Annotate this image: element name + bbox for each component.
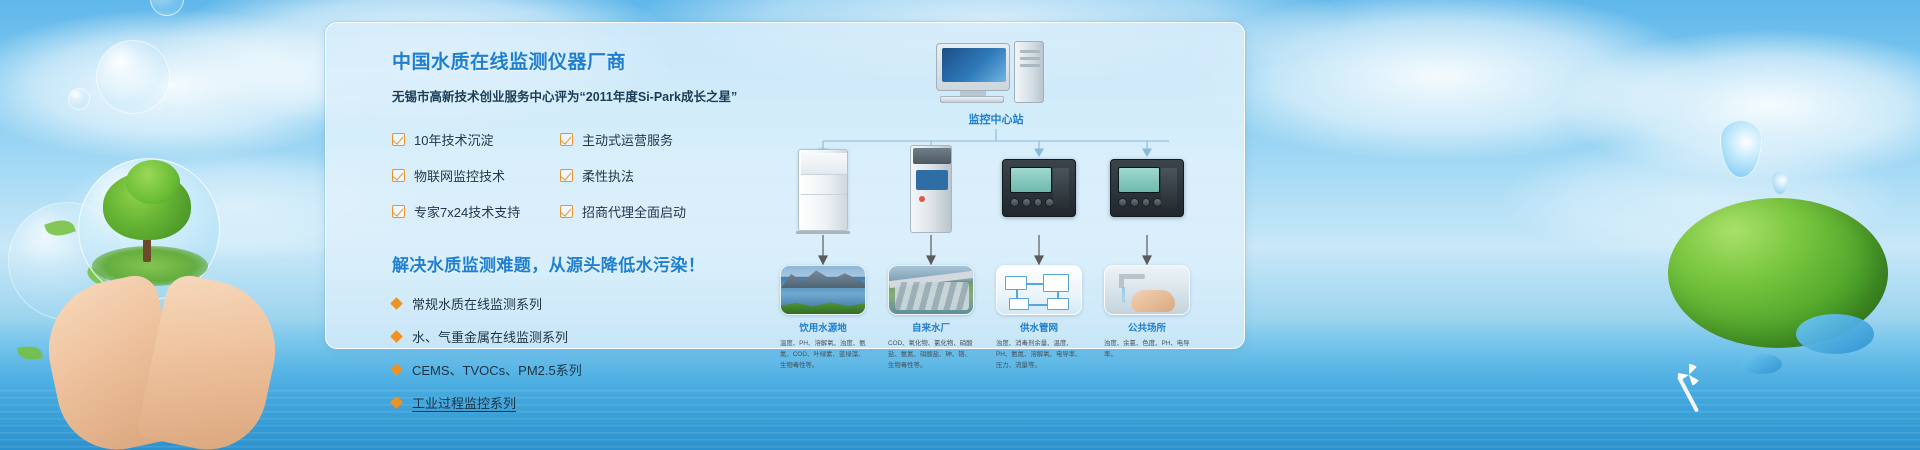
feature-list: 10年技术沉淀 主动式运营服务 物联网监控技术 柔性执法 专家7x24技术支持 …: [392, 130, 732, 221]
pipe-node: [1043, 274, 1069, 292]
device-item[interactable]: [780, 145, 866, 231]
water-treatment-plant-photo: [888, 265, 974, 315]
instrument-key: [1118, 198, 1127, 207]
green-earth-globe-icon: [1668, 198, 1888, 348]
instrument-body: [1002, 159, 1076, 217]
faucet-stem: [1119, 274, 1124, 288]
dark-instrument-controller-icon: [996, 145, 1082, 231]
text-column: 中国水质在线监测仪器厂商 无锡市高新技术创业服务中心评为“2011年度Si-Pa…: [392, 47, 732, 412]
pc-tower-icon: [1014, 41, 1044, 103]
instrument-side-panel: [1161, 168, 1177, 208]
pipe-line: [1027, 283, 1043, 285]
check-box-icon: [392, 133, 405, 146]
keyboard-icon: [940, 96, 1004, 103]
check-box-icon: [560, 169, 573, 182]
device-item[interactable]: [996, 145, 1082, 231]
instrument-side-panel: [1053, 168, 1069, 208]
system-architecture-diagram: 监控中心站: [766, 37, 1226, 347]
application-category[interactable]: 饮用水源地 温度、PH、溶解氧、浊度、氨氮、COD、叶绿素、蓝绿藻、生物毒性等。: [780, 265, 866, 372]
feature-label: 10年技术沉淀: [414, 130, 493, 149]
feature-item[interactable]: 10年技术沉淀: [392, 130, 560, 149]
application-category[interactable]: 自来水厂 COD、氧化物、氯化物、硝酸盐、氨氮、硝酸盐、砷、铬、生物毒性等。: [888, 265, 974, 372]
white-cabinet-analyzer-icon: [780, 145, 866, 231]
main-content-panel: 中国水质在线监测仪器厂商 无锡市高新技术创业服务中心评为“2011年度Si-Pa…: [325, 22, 1245, 349]
category-description: COD、氧化物、氯化物、硝酸盐、氨氮、硝酸盐、砷、铬、生物毒性等。: [888, 338, 974, 372]
instrument-body: [1110, 159, 1184, 217]
pipe-line: [1016, 290, 1018, 298]
tower-slot: [1020, 64, 1040, 67]
feature-item[interactable]: 主动式运营服务: [560, 130, 728, 149]
monitoring-center-station[interactable]: [936, 43, 1056, 105]
river-landscape-photo: [780, 265, 866, 315]
hand-shape: [1131, 290, 1175, 312]
pipe-network-diagram-photo: [996, 265, 1082, 315]
feature-label: 物联网监控技术: [414, 166, 505, 185]
cabinet-base: [796, 231, 850, 234]
instrument-keypad: [1010, 198, 1054, 210]
grey-tower-analyzer-icon: [888, 145, 974, 231]
solution-list: 常规水质在线监测系列 水、气重金属在线监测系列 CEMS、TVOCs、PM2.5…: [392, 294, 732, 412]
application-category[interactable]: 供水管网 浊度、消毒剂余量、温度、PH、氨氮、溶解氧、电导率、压力、流量等。: [996, 265, 1082, 372]
instrument-key: [1142, 198, 1151, 207]
category-description: 温度、PH、溶解氧、浊度、氨氮、COD、叶绿素、蓝绿藻、生物毒性等。: [780, 338, 866, 372]
pipe-node: [1009, 298, 1029, 310]
lake-shape: [1742, 354, 1782, 374]
right-decoration-group: [1620, 120, 1920, 380]
water-droplet-icon: [1720, 120, 1762, 178]
status-indicator-light: [919, 196, 925, 202]
solution-item[interactable]: 常规水质在线监测系列: [392, 294, 732, 313]
feature-label: 主动式运营服务: [582, 130, 673, 149]
tower-body: [910, 145, 952, 233]
wind-turbine-blades-icon: [1678, 364, 1700, 386]
category-label: 自来水厂: [888, 320, 974, 334]
solution-item[interactable]: 水、气重金属在线监测系列: [392, 327, 732, 346]
page-subtitle: 无锡市高新技术创业服务中心评为“2011年度Si-Park成长之星”: [392, 86, 732, 105]
solution-item[interactable]: CEMS、TVOCs、PM2.5系列: [392, 360, 732, 379]
category-label: 供水管网: [996, 320, 1082, 334]
tower-head: [913, 148, 951, 164]
category-description: 浊度、余氯、色度、PH、电导率。: [1104, 338, 1190, 360]
tower-display-panel: [916, 170, 948, 190]
category-description: 浊度、消毒剂余量、温度、PH、氨氮、溶解氧、电导率、压力、流量等。: [996, 338, 1082, 372]
mountain-shape: [781, 268, 865, 288]
tree-crown-icon: [126, 160, 180, 204]
pipe-line: [1057, 292, 1059, 298]
feature-item[interactable]: 柔性执法: [560, 166, 728, 185]
diamond-bullet-icon: [390, 297, 403, 310]
desktop-computer-icon: [936, 43, 1010, 91]
pipe-node: [1005, 276, 1027, 290]
cabinet-body: [798, 149, 848, 231]
water-droplet-icon: [1772, 172, 1788, 194]
instrument-key: [1130, 198, 1139, 207]
solution-item[interactable]: 工业过程监控系列: [392, 393, 732, 412]
monitoring-center-label: 监控中心站: [886, 111, 1106, 127]
category-label: 公共场所: [1104, 320, 1190, 334]
grass-shape: [781, 300, 865, 314]
device-item[interactable]: [1104, 145, 1190, 231]
device-item[interactable]: [888, 145, 974, 231]
diamond-bullet-icon: [390, 396, 403, 409]
instrument-key: [1010, 198, 1019, 207]
application-category[interactable]: 公共场所 浊度、余氯、色度、PH、电导率。: [1104, 265, 1190, 360]
instrument-screen: [1118, 167, 1160, 193]
feature-label: 招商代理全面启动: [582, 202, 686, 221]
tower-slot: [1020, 50, 1040, 53]
solution-label: 常规水质在线监测系列: [412, 294, 542, 313]
feature-item[interactable]: 招商代理全面启动: [560, 202, 728, 221]
check-box-icon: [392, 205, 405, 218]
check-box-icon: [560, 133, 573, 146]
water-stream: [1122, 287, 1125, 303]
check-box-icon: [392, 169, 405, 182]
lake-shape: [1796, 314, 1874, 354]
feature-item[interactable]: 物联网监控技术: [392, 166, 560, 185]
solution-heading: 解决水质监测难题，从源头降低水污染！: [392, 251, 732, 276]
pipe-node: [1047, 298, 1069, 310]
instrument-key: [1034, 198, 1043, 207]
left-decoration-group: [0, 150, 330, 450]
page-title: 中国水质在线监测仪器厂商: [392, 47, 732, 74]
bubble-icon: [96, 40, 170, 114]
solution-label: 水、气重金属在线监测系列: [412, 327, 568, 346]
pipe-line: [1029, 304, 1047, 306]
solution-label: 工业过程监控系列: [412, 393, 516, 412]
diamond-bullet-icon: [390, 330, 403, 343]
cabinet-top-panel: [801, 153, 847, 175]
feature-label: 专家7x24技术支持: [414, 202, 520, 221]
leaf-icon: [17, 344, 43, 361]
diamond-bullet-icon: [390, 363, 403, 376]
bubble-icon: [68, 88, 90, 110]
instrument-keypad: [1118, 198, 1162, 210]
tap-water-hand-photo: [1104, 265, 1190, 315]
instrument-key: [1022, 198, 1031, 207]
category-label: 饮用水源地: [780, 320, 866, 334]
check-box-icon: [560, 205, 573, 218]
dark-instrument-controller-icon: [1104, 145, 1190, 231]
instrument-screen: [1010, 167, 1052, 193]
feature-label: 柔性执法: [582, 166, 634, 185]
feature-item[interactable]: 专家7x24技术支持: [392, 202, 560, 221]
monitor-screen: [942, 48, 1006, 82]
cabinet-seam: [801, 194, 847, 195]
treatment-tanks-shape: [895, 282, 969, 310]
tower-slot: [1020, 57, 1040, 60]
solution-label: CEMS、TVOCs、PM2.5系列: [412, 360, 582, 379]
